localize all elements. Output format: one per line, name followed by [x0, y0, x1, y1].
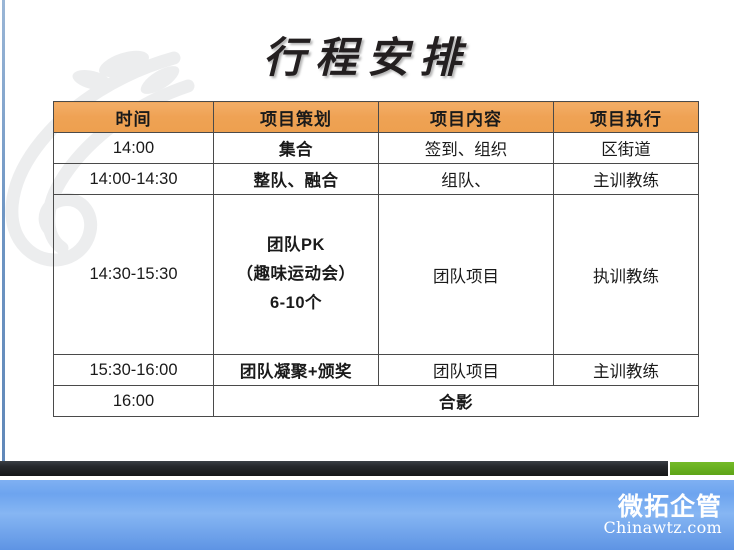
cell-merged-label: 合影: [214, 386, 699, 417]
slide-canvas: 行程安排 时间 项目策划 项目内容 项目执行 14:00 集合 签到、组织 区街…: [0, 0, 734, 550]
page-title: 行程安排: [0, 24, 734, 85]
brand-watermark: 微拓企管 Chinawtz.com: [603, 494, 722, 537]
table-row: 14:00 集合 签到、组织 区街道: [54, 133, 699, 164]
table-row: 15:30-16:00 团队凝聚+颁奖 团队项目 主训教练: [54, 355, 699, 386]
cell-time: 14:30-15:30: [54, 195, 214, 355]
cell-content: 组队、: [379, 164, 554, 195]
footer-green-bar: [670, 462, 734, 475]
cell-exec: 主训教练: [554, 164, 699, 195]
column-header-time: 时间: [54, 102, 214, 133]
table-header-row: 时间 项目策划 项目内容 项目执行: [54, 102, 699, 133]
schedule-table-wrapper: 时间 项目策划 项目内容 项目执行 14:00 集合 签到、组织 区街道 14:…: [53, 101, 678, 417]
cell-time: 15:30-16:00: [54, 355, 214, 386]
table-row: 14:00-14:30 整队、融合 组队、 主训教练: [54, 164, 699, 195]
cell-content: 团队项目: [379, 195, 554, 355]
schedule-table: 时间 项目策划 项目内容 项目执行 14:00 集合 签到、组织 区街道 14:…: [53, 101, 699, 417]
cell-content: 签到、组织: [379, 133, 554, 164]
cell-plan: 整队、融合: [214, 164, 379, 195]
cell-content: 团队项目: [379, 355, 554, 386]
cell-time: 14:00-14:30: [54, 164, 214, 195]
cell-time: 16:00: [54, 386, 214, 417]
cell-exec: 区街道: [554, 133, 699, 164]
cell-plan-line1: 团队PK: [216, 231, 376, 260]
cell-exec: 主训教练: [554, 355, 699, 386]
cell-plan: 团队凝聚+颁奖: [214, 355, 379, 386]
table-row: 16:00 合影: [54, 386, 699, 417]
column-header-content: 项目内容: [379, 102, 554, 133]
footer-dark-bar: [0, 461, 668, 476]
column-header-plan: 项目策划: [214, 102, 379, 133]
cell-plan: 集合: [214, 133, 379, 164]
brand-name-cn: 微拓企管: [603, 494, 722, 520]
cell-time: 14:00: [54, 133, 214, 164]
column-header-exec: 项目执行: [554, 102, 699, 133]
cell-exec: 执训教练: [554, 195, 699, 355]
cell-plan-line2: （趣味运动会）: [216, 260, 376, 289]
table-row: 14:30-15:30 团队PK （趣味运动会） 6-10个 团队项目 执训教练: [54, 195, 699, 355]
brand-url: Chinawtz.com: [603, 520, 722, 537]
cell-plan-line3: 6-10个: [216, 289, 376, 318]
cell-plan: 团队PK （趣味运动会） 6-10个: [214, 195, 379, 355]
